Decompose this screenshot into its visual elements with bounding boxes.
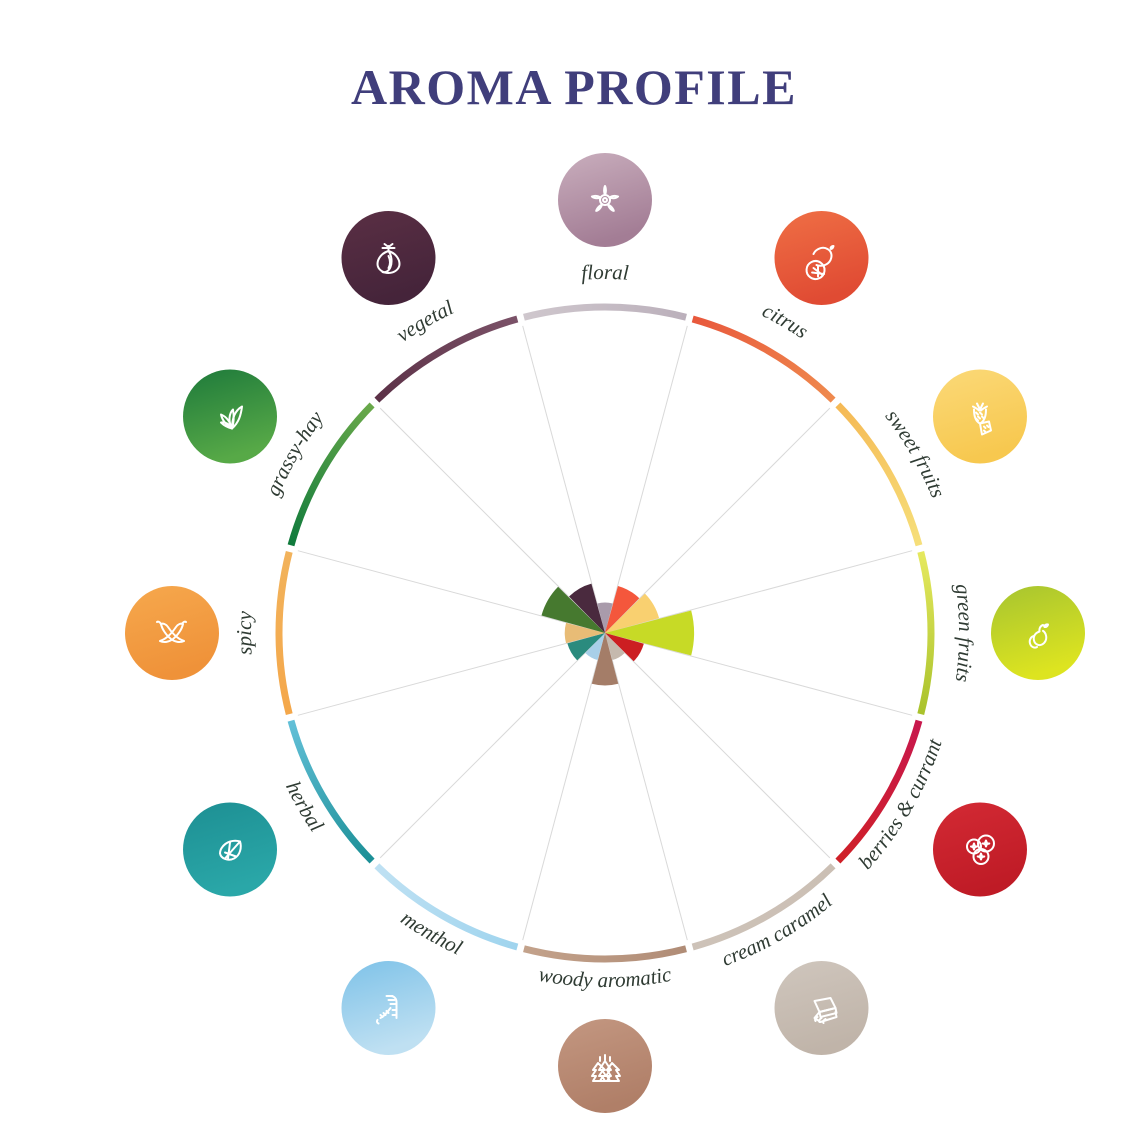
category-label-spicy: spicy bbox=[232, 610, 257, 656]
category-label-green-fruits: green fruits bbox=[951, 582, 978, 683]
ring-segment-green-fruits[interactable] bbox=[921, 552, 931, 714]
category-label-menthol: menthol bbox=[397, 906, 467, 960]
ring-segment-woody-aromatic[interactable] bbox=[524, 949, 686, 959]
ring-segment-citrus[interactable] bbox=[693, 319, 833, 400]
badge-grassy-hay[interactable] bbox=[183, 370, 277, 464]
badge-spicy[interactable] bbox=[125, 586, 219, 680]
badge-circle-woody-aromatic bbox=[558, 1019, 652, 1113]
badge-circle-sweet-fruits bbox=[933, 370, 1027, 464]
badge-vegetal[interactable] bbox=[342, 211, 436, 305]
grid-spoke bbox=[605, 326, 687, 633]
badge-green-fruits[interactable] bbox=[991, 586, 1085, 680]
grid-spoke bbox=[380, 633, 605, 858]
grid-spoke bbox=[605, 633, 830, 858]
badge-circle-menthol bbox=[342, 961, 436, 1055]
category-label-floral: floral bbox=[581, 260, 630, 285]
grid-spoke bbox=[523, 326, 605, 633]
category-label-citrus: citrus bbox=[759, 298, 813, 343]
category-label-woody-aromatic: woody aromatic bbox=[537, 962, 674, 992]
ring-segment-floral[interactable] bbox=[524, 307, 686, 317]
grid-spoke bbox=[605, 551, 912, 633]
badge-cream-caramel[interactable] bbox=[775, 961, 869, 1055]
badge-sweet-fruits[interactable] bbox=[933, 370, 1027, 464]
badge-berries-currant[interactable] bbox=[933, 803, 1027, 897]
grid-spoke bbox=[298, 633, 605, 715]
grid-spoke bbox=[605, 633, 687, 940]
ring-segment-spicy[interactable] bbox=[279, 552, 289, 714]
grid-spoke bbox=[380, 408, 605, 633]
badge-herbal[interactable] bbox=[183, 803, 277, 897]
aroma-profile-page: AROMA PROFILE bbox=[0, 0, 1148, 1148]
grid-spoke bbox=[605, 408, 830, 633]
grid-spoke bbox=[605, 633, 912, 715]
aroma-wheel-chart: floralcitrussweet fruitsgreen fruitsberr… bbox=[0, 0, 1148, 1148]
badge-circle-citrus bbox=[775, 211, 869, 305]
grid-spoke bbox=[523, 633, 605, 940]
badge-menthol[interactable] bbox=[342, 961, 436, 1055]
badge-circle-floral bbox=[558, 153, 652, 247]
category-label-berries-currant: berries & currant bbox=[853, 735, 947, 874]
category-label-herbal: herbal bbox=[281, 777, 329, 836]
badge-woody-aromatic[interactable] bbox=[558, 1019, 652, 1113]
badge-floral[interactable] bbox=[558, 153, 652, 247]
badge-circle-cream-caramel bbox=[775, 961, 869, 1055]
petal-values bbox=[541, 584, 694, 686]
badge-citrus[interactable] bbox=[775, 211, 869, 305]
